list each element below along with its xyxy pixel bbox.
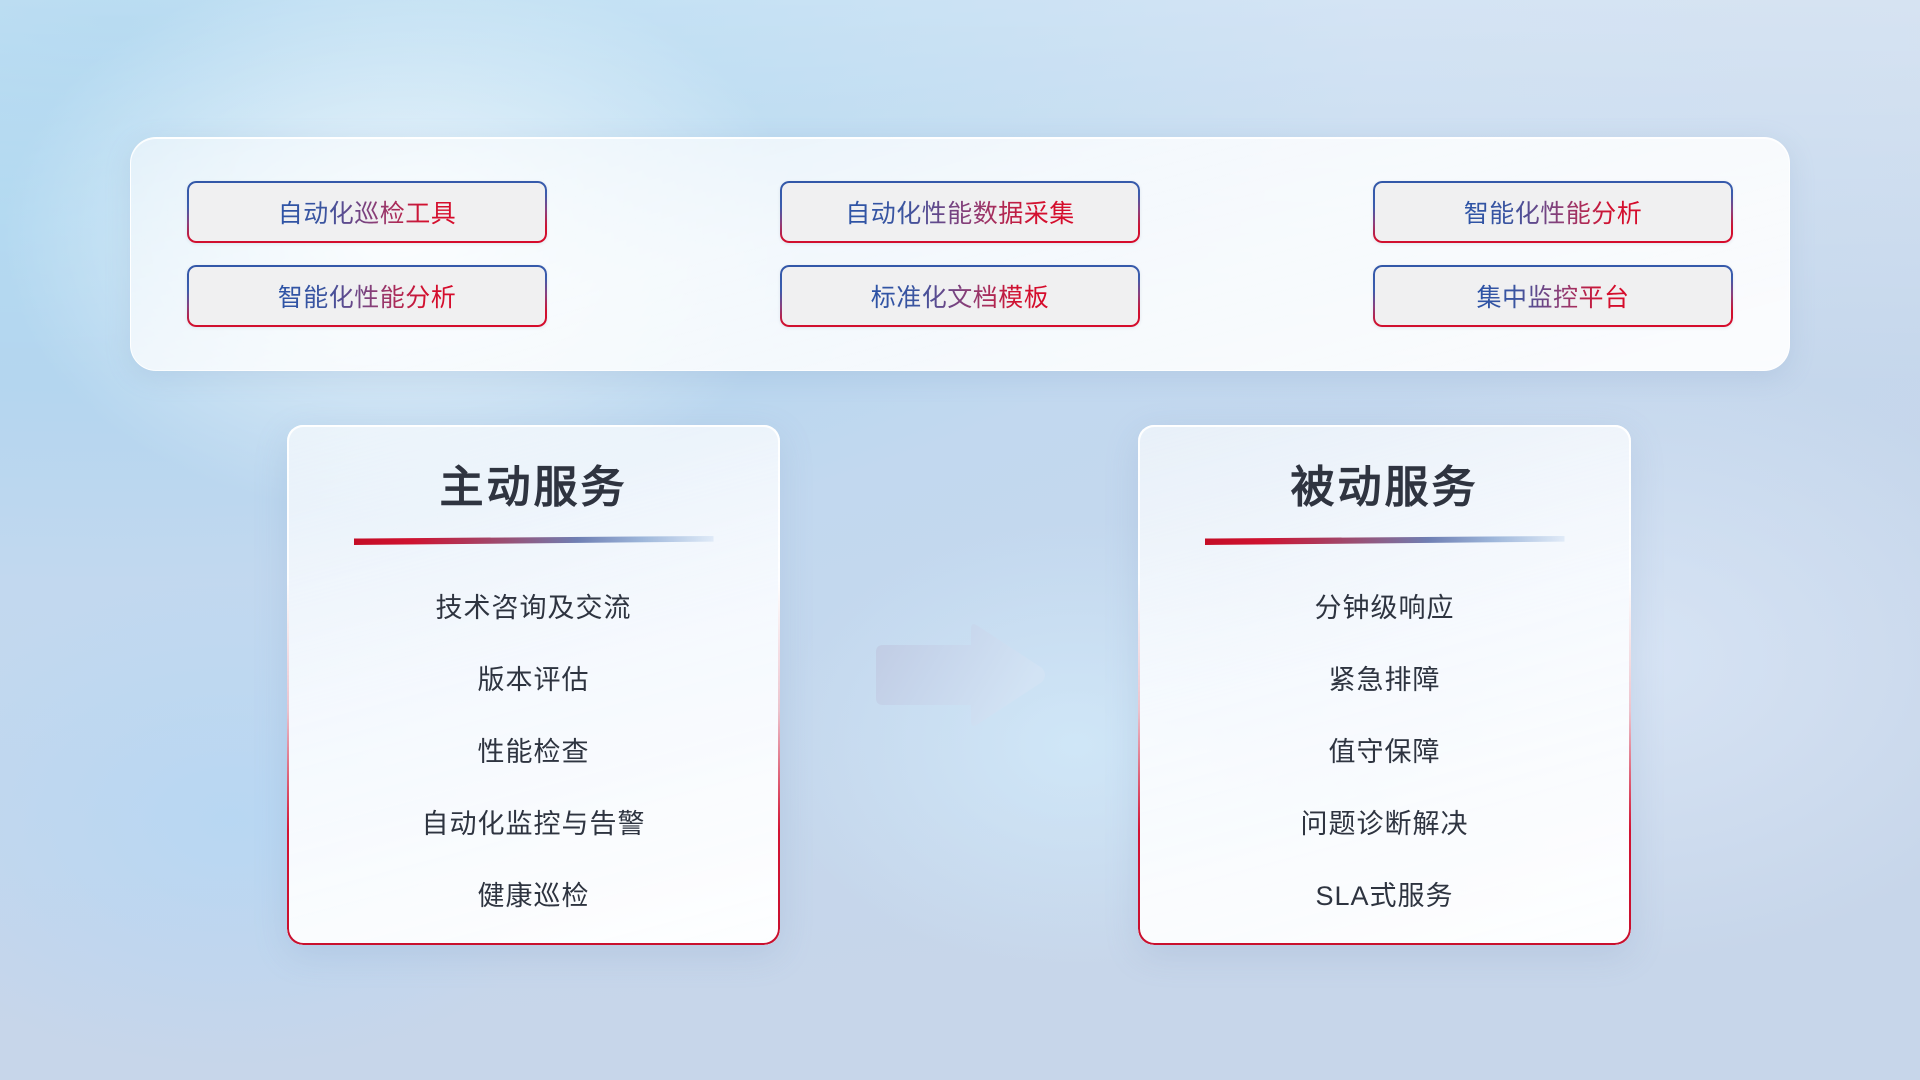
service-list-item: SLA式服务 [1315, 869, 1453, 924]
flow-arrow-right [870, 620, 1050, 730]
capability-pill-label: 自动化性能数据采集 [845, 194, 1075, 230]
capability-pill-4[interactable]: 智能化性能分析 [187, 265, 547, 327]
service-list-item: 健康巡检 [478, 869, 590, 924]
service-card-passive-inner: 被动服务 分钟级响应 紧急排障 值守保障 问题诊断解决 SLA式服务 [1138, 425, 1631, 945]
capability-pill-grid: 自动化巡检工具 自动化性能数据采集 智能化性能分析 智能化性能分析 标准化文档模… [131, 138, 1789, 370]
service-list-item: 自动化监控与告警 [422, 797, 646, 852]
service-card-active-inner: 主动服务 技术咨询及交流 版本评估 性能检查 自动化监控与告警 健康巡检 [287, 425, 780, 945]
service-card-title: 被动服务 [1291, 451, 1479, 515]
capability-pill-1[interactable]: 自动化巡检工具 [187, 181, 547, 243]
service-list-item: 分钟级响应 [1315, 581, 1455, 636]
capability-pill-label: 集中监控平台 [1476, 278, 1629, 314]
service-list-item: 紧急排障 [1329, 653, 1441, 708]
capability-pill-3[interactable]: 智能化性能分析 [1373, 181, 1733, 243]
capability-pill-2[interactable]: 自动化性能数据采集 [780, 181, 1140, 243]
service-list-item: 版本评估 [478, 653, 590, 708]
service-list-item: 性能检查 [478, 725, 590, 780]
service-card-divider [354, 536, 714, 545]
capability-pill-label: 智能化性能分析 [278, 278, 457, 314]
service-card-active: 主动服务 技术咨询及交流 版本评估 性能检查 自动化监控与告警 健康巡检 [287, 425, 780, 945]
service-card-divider [1205, 536, 1565, 545]
capability-pill-6[interactable]: 集中监控平台 [1373, 265, 1733, 327]
capability-pill-label: 标准化文档模板 [871, 278, 1050, 314]
service-card-item-list: 分钟级响应 紧急排障 值守保障 问题诊断解决 SLA式服务 [1138, 581, 1631, 941]
service-card-title: 主动服务 [440, 451, 628, 515]
service-list-item: 问题诊断解决 [1301, 797, 1469, 852]
service-card-item-list: 技术咨询及交流 版本评估 性能检查 自动化监控与告警 健康巡检 [287, 581, 780, 941]
capability-pill-5[interactable]: 标准化文档模板 [780, 265, 1140, 327]
flow-arrow-shape [876, 624, 1045, 726]
service-list-item: 值守保障 [1329, 725, 1441, 780]
service-list-item: 技术咨询及交流 [436, 581, 632, 636]
capability-pill-label: 自动化巡检工具 [278, 194, 457, 230]
capability-panel: 自动化巡检工具 自动化性能数据采集 智能化性能分析 智能化性能分析 标准化文档模… [130, 137, 1790, 371]
service-card-passive: 被动服务 分钟级响应 紧急排障 值守保障 问题诊断解决 SLA式服务 [1138, 425, 1631, 945]
capability-pill-label: 智能化性能分析 [1464, 194, 1643, 230]
